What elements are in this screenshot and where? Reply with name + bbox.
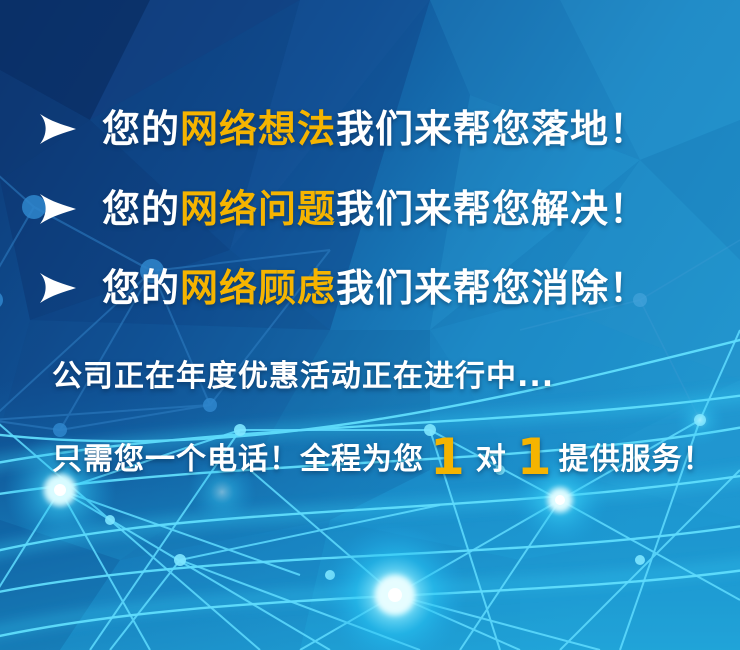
headline-highlight-1: 网络想法	[180, 107, 336, 151]
headline-suffix-2: 我们来帮您解决！	[336, 187, 648, 231]
headline-row-2: 您的网络问题我们来帮您解决！	[38, 190, 648, 228]
service-text-middle: 对	[472, 442, 511, 477]
headline-highlight-3: 网络顾虑	[180, 266, 336, 310]
headline-suffix-1: 我们来帮您落地！	[336, 107, 648, 151]
headline-prefix-1: 您的	[102, 107, 180, 151]
service-number-one-first: 1	[424, 428, 472, 486]
headline-prefix-2: 您的	[102, 187, 180, 231]
promo-subtext-line: 公司正在年度优惠活动正在进行中...	[52, 362, 554, 392]
service-text-part2: 提供服务！	[559, 442, 714, 477]
headline-text-1: 您的网络想法我们来帮您落地！	[102, 110, 648, 148]
banner-text-block: 您的网络想法我们来帮您落地！ 您的网络问题我们来帮您解决！ 您的网络顾虑我们来帮…	[0, 0, 740, 650]
arrow-right-triangle-icon	[38, 112, 78, 146]
headline-highlight-2: 网络问题	[180, 187, 336, 231]
headline-text-2: 您的网络问题我们来帮您解决！	[102, 190, 648, 228]
arrow-right-triangle-icon	[38, 192, 78, 226]
headline-row-1: 您的网络想法我们来帮您落地！	[38, 110, 648, 148]
service-text-part1: 只需您一个电话！全程为您	[52, 442, 424, 477]
headline-prefix-3: 您的	[102, 266, 180, 310]
headline-text-3: 您的网络顾虑我们来帮您消除！	[102, 269, 648, 307]
arrow-right-triangle-icon	[38, 271, 78, 305]
headline-suffix-3: 我们来帮您消除！	[336, 266, 648, 310]
service-number-one-second: 1	[511, 428, 559, 486]
service-subtext-line: 只需您一个电话！全程为您1对1提供服务！	[52, 432, 714, 482]
promo-banner: 您的网络想法我们来帮您落地！ 您的网络问题我们来帮您解决！ 您的网络顾虑我们来帮…	[0, 0, 740, 650]
headline-row-3: 您的网络顾虑我们来帮您消除！	[38, 269, 648, 307]
